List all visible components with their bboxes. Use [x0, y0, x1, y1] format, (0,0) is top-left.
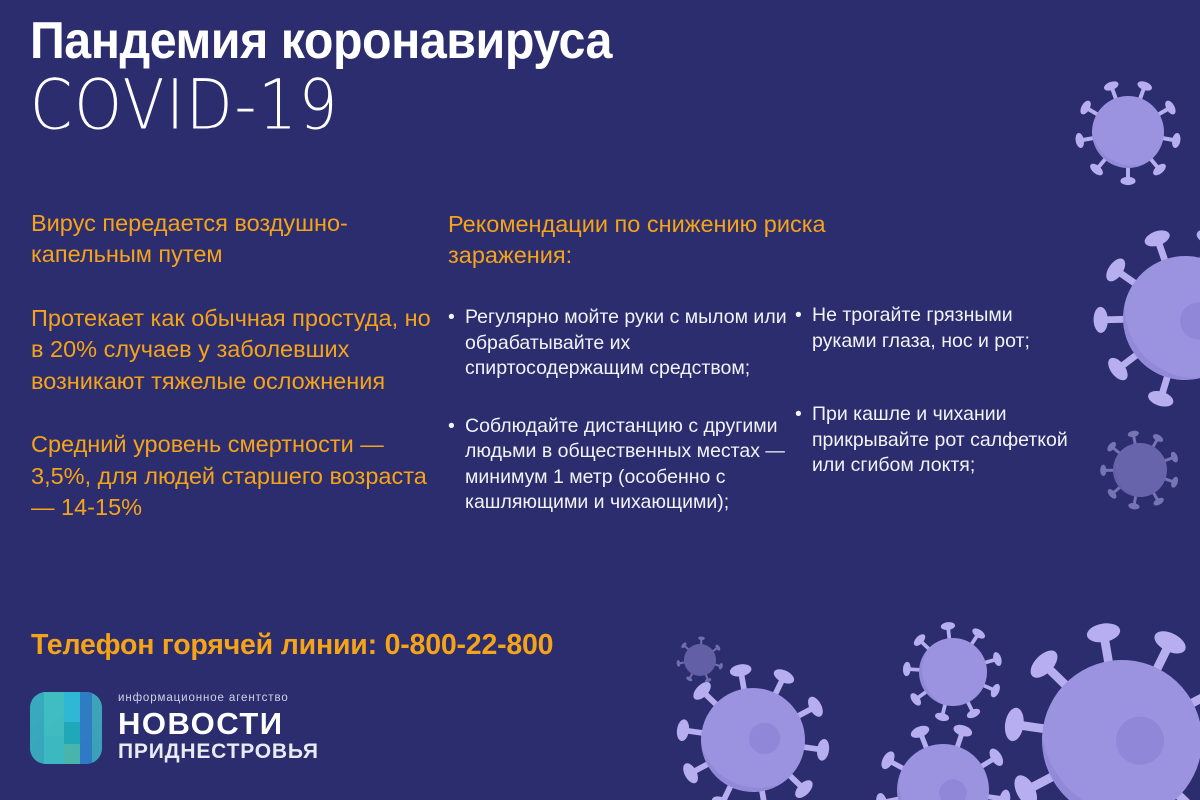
- list-item-label: Не трогайте грязными руками глаза, нос и…: [812, 304, 1030, 352]
- list-item: • Не трогайте грязными руками глаза, нос…: [795, 303, 1070, 354]
- list-item-label: При кашле и чихании прикрывайте рот салф…: [812, 403, 1068, 476]
- bullet-marker-icon: •: [448, 414, 455, 440]
- bullet-marker-icon: •: [448, 305, 455, 331]
- logo-kicker: информационное агентство: [118, 693, 319, 705]
- logo-text-block: информационное агентство НОВОСТИ ПРИДНЕС…: [118, 693, 319, 763]
- hotline-text: Телефон горячей линии: 0-800-22-800: [31, 629, 553, 662]
- poster-header: Пандемия коронавируса COVID-19: [30, 14, 790, 137]
- bullet-marker-icon: •: [795, 303, 802, 329]
- list-item: • Регулярно мойте руки с мылом или обраб…: [448, 305, 788, 382]
- page-subtitle: COVID-19: [30, 71, 729, 140]
- infographic-poster: Пандемия коронавируса COVID-19 Вирус пер…: [0, 0, 1200, 800]
- list-item: • Соблюдайте дистанцию с другими людьми …: [448, 414, 788, 516]
- fact-symptoms: Протекает как обычная простуда, но в 20%…: [31, 303, 431, 397]
- list-item: • При кашле и чихании прикрывайте рот са…: [795, 402, 1070, 479]
- agency-logo: информационное агентство НОВОСТИ ПРИДНЕС…: [30, 692, 319, 764]
- page-title: Пандемия коронавируса: [30, 14, 737, 69]
- recommendations-column-right: • Не трогайте грязными руками глаза, нос…: [795, 303, 1070, 527]
- fact-transmission: Вирус передается воздушно-капельным путе…: [31, 208, 431, 271]
- list-item-label: Регулярно мойте руки с мылом или обрабат…: [465, 306, 787, 379]
- recommendations-heading: Рекомендации по снижению риска заражения…: [448, 209, 948, 272]
- recommendations-column-left: • Регулярно мойте руки с мылом или обраб…: [448, 305, 788, 548]
- poster-content: Пандемия коронавируса COVID-19 Вирус пер…: [0, 0, 1200, 800]
- list-item-label: Соблюдайте дистанцию с другими людьми в …: [465, 415, 785, 514]
- bullet-marker-icon: •: [795, 402, 802, 428]
- logo-region: ПРИДНЕСТРОВЬЯ: [118, 740, 319, 763]
- fact-mortality: Средний уровень смертности — 3,5%, для л…: [31, 429, 431, 523]
- logo-name: НОВОСТИ: [118, 708, 319, 739]
- logo-mark-icon: [30, 692, 102, 764]
- facts-column: Вирус передается воздушно-капельным путе…: [31, 208, 431, 524]
